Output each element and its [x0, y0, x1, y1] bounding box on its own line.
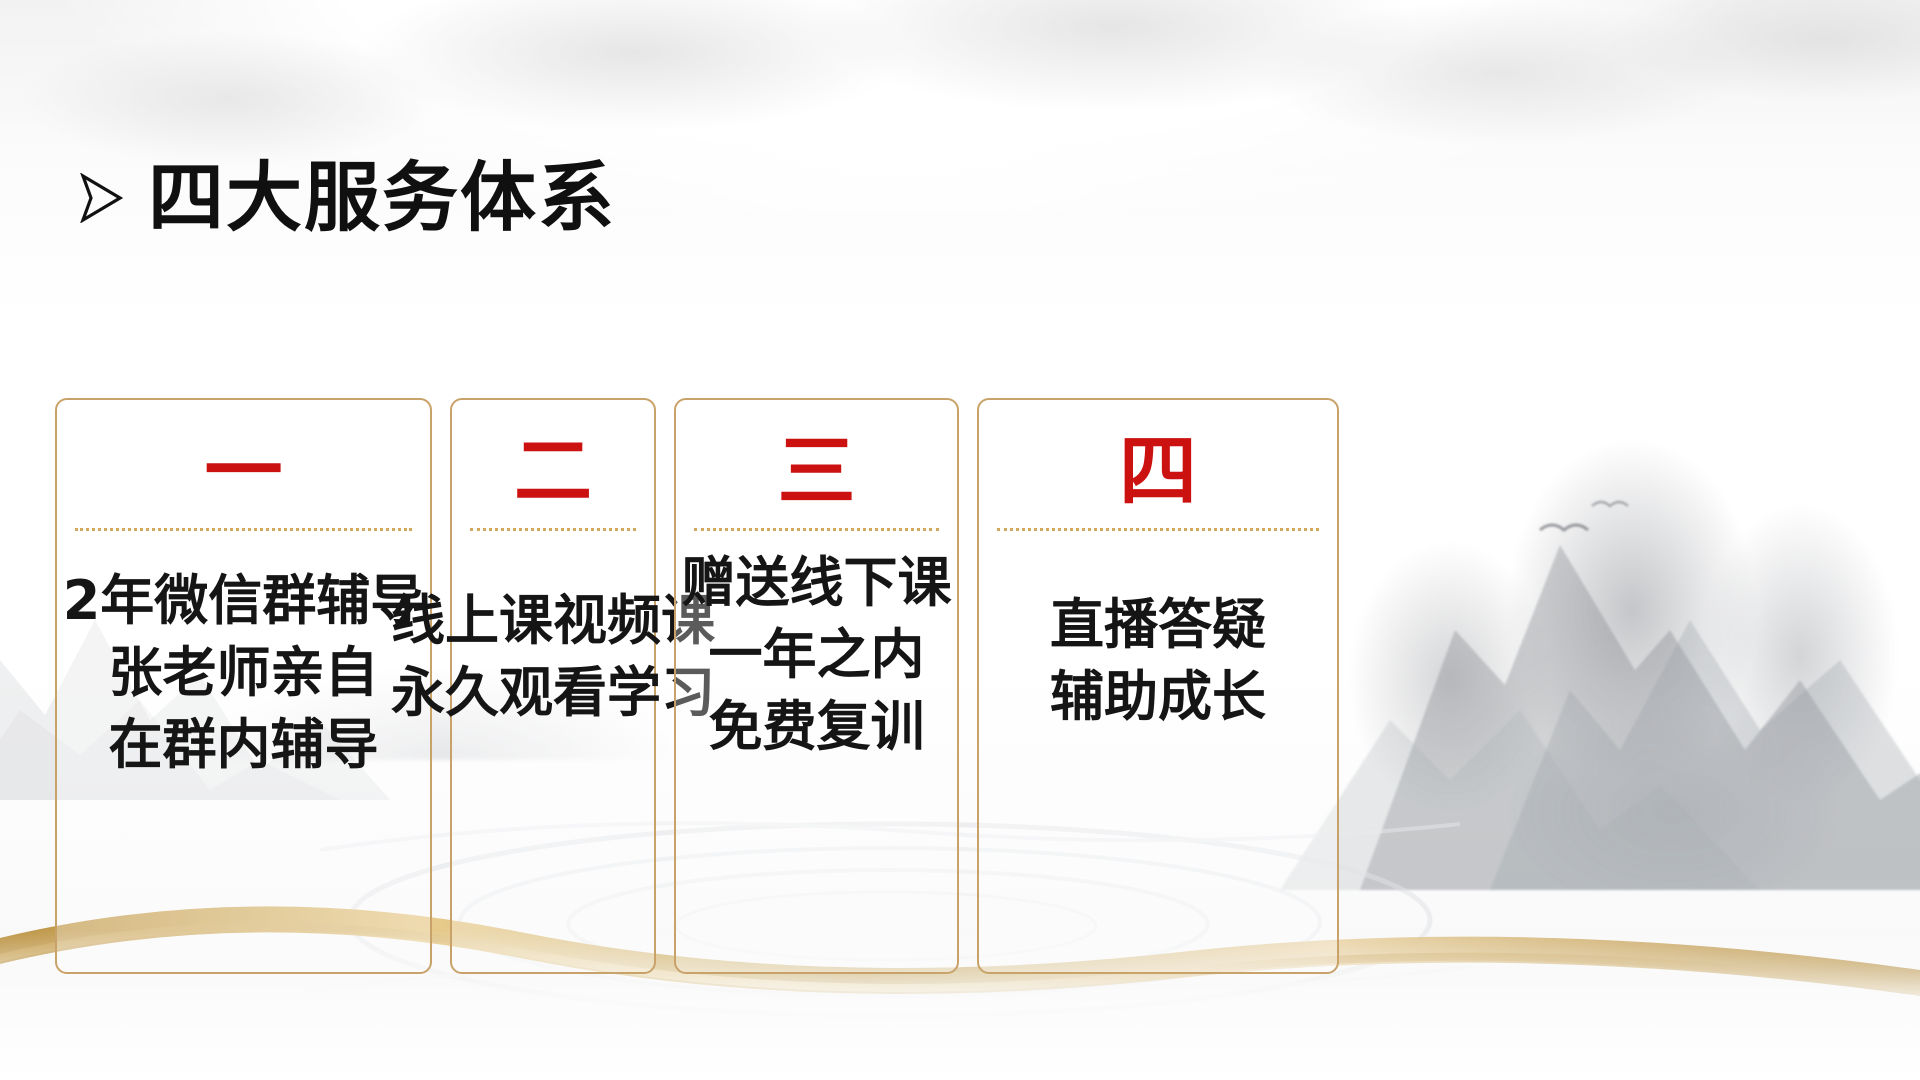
- service-card-3[interactable]: 三 赠送线下课 一年之内 免费复训: [674, 398, 959, 974]
- card-line: 一年之内: [709, 619, 925, 691]
- card-line: 免费复训: [709, 691, 925, 763]
- card-body-2: 线上课视频课 永久观看学习: [452, 585, 654, 729]
- bird-icon: [1540, 525, 1588, 530]
- card-line: 永久观看学习: [391, 657, 715, 729]
- service-cards: 一 2年微信群辅导 张老师亲自 在群内辅导 二 线上课视频课 永久观看学习 三 …: [55, 398, 1535, 974]
- card-divider-2: [470, 528, 636, 531]
- card-line: 直播答疑: [1050, 589, 1266, 661]
- card-line: 2年微信群辅导: [63, 565, 425, 637]
- service-card-1[interactable]: 一 2年微信群辅导 张老师亲自 在群内辅导: [55, 398, 432, 974]
- card-body-3: 赠送线下课 一年之内 免费复训: [676, 547, 957, 762]
- arrow-bullet-icon: [78, 171, 124, 225]
- card-numeral-1: 一: [204, 426, 282, 518]
- card-numeral-3: 三: [777, 426, 855, 518]
- card-line: 辅助成长: [1050, 661, 1266, 733]
- card-divider-3: [694, 528, 939, 531]
- card-divider-1: [75, 528, 412, 531]
- card-line: 在群内辅导: [109, 709, 379, 781]
- card-body-1: 2年微信群辅导 张老师亲自 在群内辅导: [57, 565, 430, 780]
- card-line: 线上课视频课: [391, 585, 715, 657]
- service-card-4[interactable]: 四 直播答疑 辅助成长: [977, 398, 1339, 974]
- card-line: 张老师亲自: [109, 637, 379, 709]
- page-title-text: 四大服务体系: [148, 160, 616, 236]
- card-numeral-4: 四: [1119, 426, 1197, 518]
- page-title: 四大服务体系: [78, 160, 616, 236]
- slide-canvas: 四大服务体系 一 2年微信群辅导 张老师亲自 在群内辅导 二 线上课视频课 永久…: [0, 0, 1920, 1080]
- bird-icon: [1592, 502, 1628, 506]
- service-card-2[interactable]: 二 线上课视频课 永久观看学习: [450, 398, 656, 974]
- card-divider-4: [997, 528, 1319, 531]
- card-line: 赠送线下课: [682, 547, 952, 619]
- card-body-4: 直播答疑 辅助成长: [979, 589, 1337, 733]
- card-numeral-2: 二: [514, 426, 592, 518]
